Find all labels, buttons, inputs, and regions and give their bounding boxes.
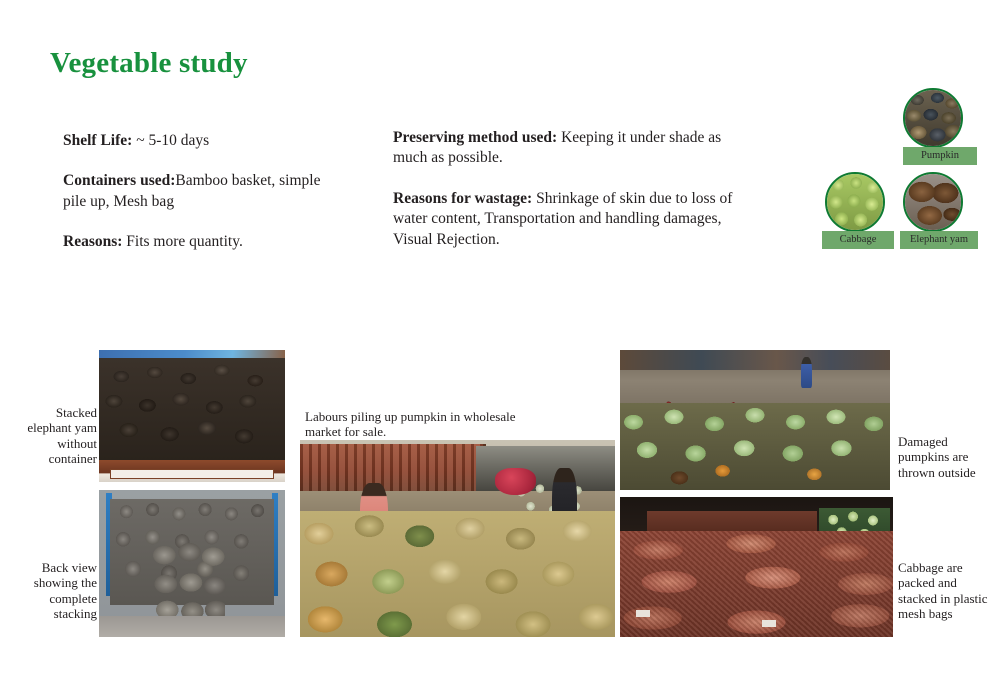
caption-cabbage-mesh-bags: Cabbage are packed and stacked in plasti…	[898, 560, 998, 621]
yam-front-stack	[151, 543, 225, 619]
photo-back-view-stacking	[99, 490, 285, 637]
thumbnail-cabbage: Cabbage	[825, 172, 885, 232]
caption-labours-piling-pumpkin: Labours piling up pumpkin in wholesale m…	[305, 409, 535, 440]
cabbage-bags-artwork	[620, 497, 893, 637]
info-block-containers-used: Containers used:Bamboo basket, simple pi…	[63, 171, 343, 212]
info-label-shelf-life: Shelf Life:	[63, 132, 132, 149]
market-trucks	[300, 444, 486, 495]
pumpkin-market-artwork	[300, 440, 615, 637]
photo-stacked-elephant-yam	[99, 350, 285, 482]
thumbnail-cabbage-caption: Cabbage	[822, 231, 894, 249]
info-text-reasons: Fits more quantity.	[122, 233, 242, 250]
red-mesh-bag-stack	[620, 531, 893, 637]
market-pumpkin-pile	[300, 511, 615, 637]
info-column-middle: Preserving method used: Keeping it under…	[393, 128, 753, 250]
bag-label-tag-center	[762, 620, 776, 627]
thumbnail-elephant-yam-caption: Elephant yam	[900, 231, 978, 249]
info-block-shelf-life: Shelf Life: ~ 5-10 days	[63, 131, 343, 151]
photo-cabbage-mesh-bags	[620, 497, 893, 637]
yam-cart-base	[99, 460, 285, 482]
elephant-yam-art	[905, 174, 961, 230]
info-label-preserving-method: Preserving method used:	[393, 129, 557, 146]
bag-label-tag-left	[636, 610, 650, 617]
info-text-shelf-life: ~ 5-10 days	[132, 132, 209, 149]
thumbnail-cabbage-image	[825, 172, 885, 232]
thumbnail-elephant-yam-image	[903, 172, 963, 232]
cabbage-pile-art	[827, 174, 883, 230]
info-label-containers-used: Containers used:	[63, 172, 175, 189]
info-label-reasons: Reasons:	[63, 233, 122, 250]
dump-pumpkin-waste-pile	[620, 403, 890, 490]
caption-stacked-elephant-yam: Stacked elephant yam without container	[25, 405, 97, 466]
market-onion-sack	[495, 468, 536, 496]
thumbnail-pumpkin-image	[903, 88, 963, 148]
pumpkin-pile-art	[905, 90, 961, 146]
info-block-reasons-for-wastage: Reasons for wastage: Shrinkage of skin d…	[393, 189, 753, 250]
damaged-pumpkins-artwork	[620, 350, 890, 490]
dump-person	[801, 357, 812, 388]
thumbnail-elephant-yam: Elephant yam	[903, 172, 963, 232]
caption-back-view-stacking: Back view showing the complete stacking	[15, 560, 97, 621]
thumbnail-pumpkin-caption: Pumpkin	[903, 147, 977, 165]
info-column-left: Shelf Life: ~ 5-10 days Containers used:…	[63, 131, 343, 253]
yam-tuber-stack	[99, 358, 285, 461]
photo-labours-piling-pumpkin	[300, 440, 615, 637]
stacked-yam-artwork	[99, 350, 285, 482]
page-title: Vegetable study	[50, 47, 248, 80]
caption-damaged-pumpkins: Damaged pumpkins are thrown outside	[898, 434, 998, 480]
back-view-artwork	[99, 490, 285, 637]
info-block-reasons: Reasons: Fits more quantity.	[63, 232, 343, 252]
thumbnail-pumpkin: Pumpkin	[903, 88, 963, 148]
info-label-reasons-for-wastage: Reasons for wastage:	[393, 190, 532, 207]
dump-background-buildings	[620, 350, 890, 370]
photo-damaged-pumpkins	[620, 350, 890, 490]
ground-floor	[99, 616, 285, 637]
info-block-preserving-method: Preserving method used: Keeping it under…	[393, 128, 753, 169]
